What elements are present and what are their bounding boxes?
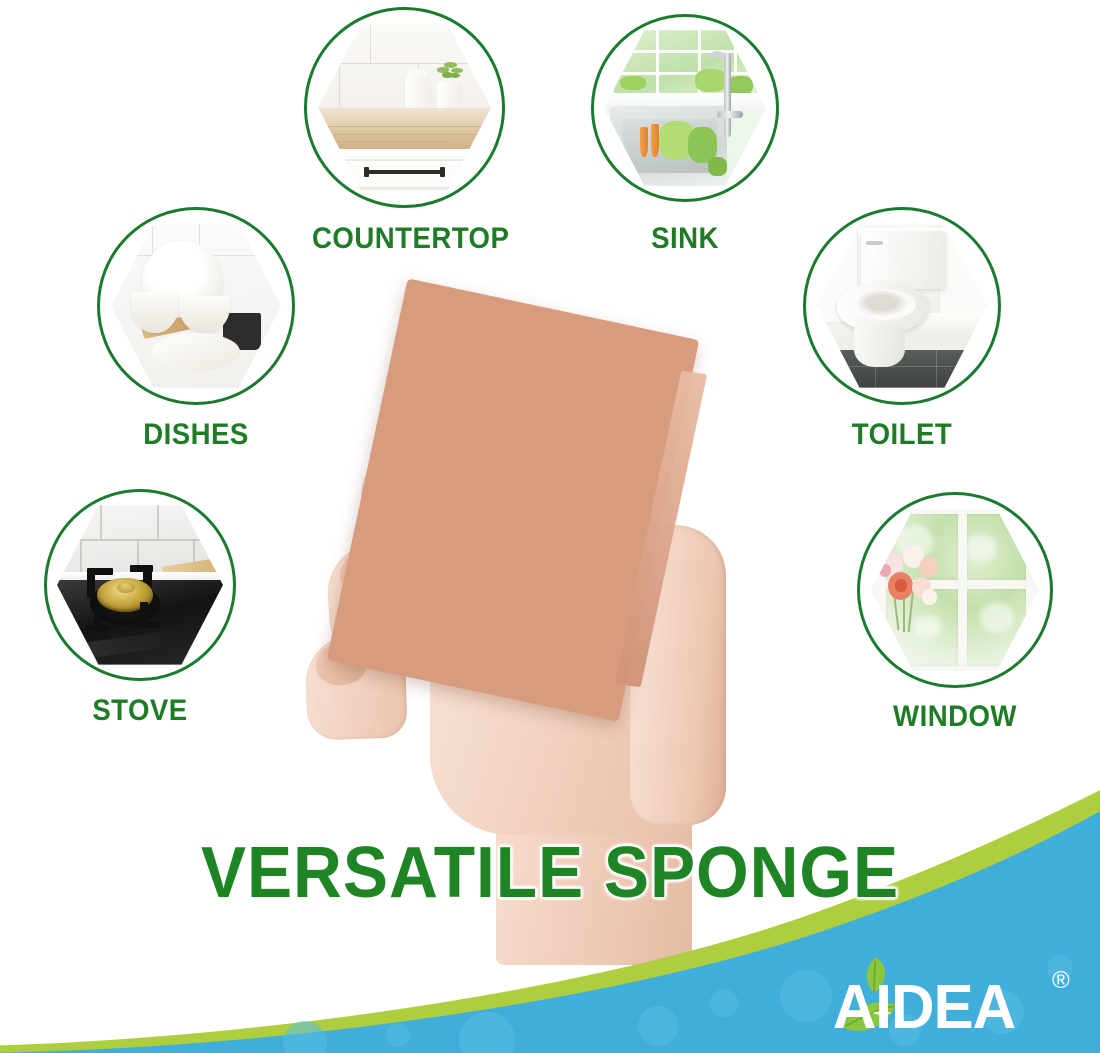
feature-sink: SINK [591, 14, 779, 314]
feature-stove: STOVE [44, 489, 236, 789]
feature-countertop: COUNTERTOP [304, 7, 505, 307]
flush-lever-icon [866, 241, 883, 245]
feature-label-sink: SINK [599, 222, 772, 256]
feature-window: WINDOW [857, 492, 1053, 792]
feature-dishes: DISHES [97, 207, 295, 507]
promo-image: COUNTERTOP [0, 0, 1100, 1053]
feature-toilet: TOILET [803, 207, 1001, 507]
feature-label-toilet: TOILET [811, 418, 993, 452]
registered-mark: ® [1052, 967, 1070, 995]
brand-logo: AIDEA ® [830, 963, 1080, 1043]
feature-label-stove: STOVE [52, 694, 229, 728]
cabinet-handle-icon [366, 170, 442, 174]
feature-label-countertop: COUNTERTOP [312, 222, 497, 256]
brand-name: AIDEA [833, 977, 1015, 1039]
page-title: VERSATILE SPONGE [33, 832, 1067, 914]
feature-label-window: WINDOW [865, 700, 1045, 734]
feature-label-dishes: DISHES [105, 418, 287, 452]
